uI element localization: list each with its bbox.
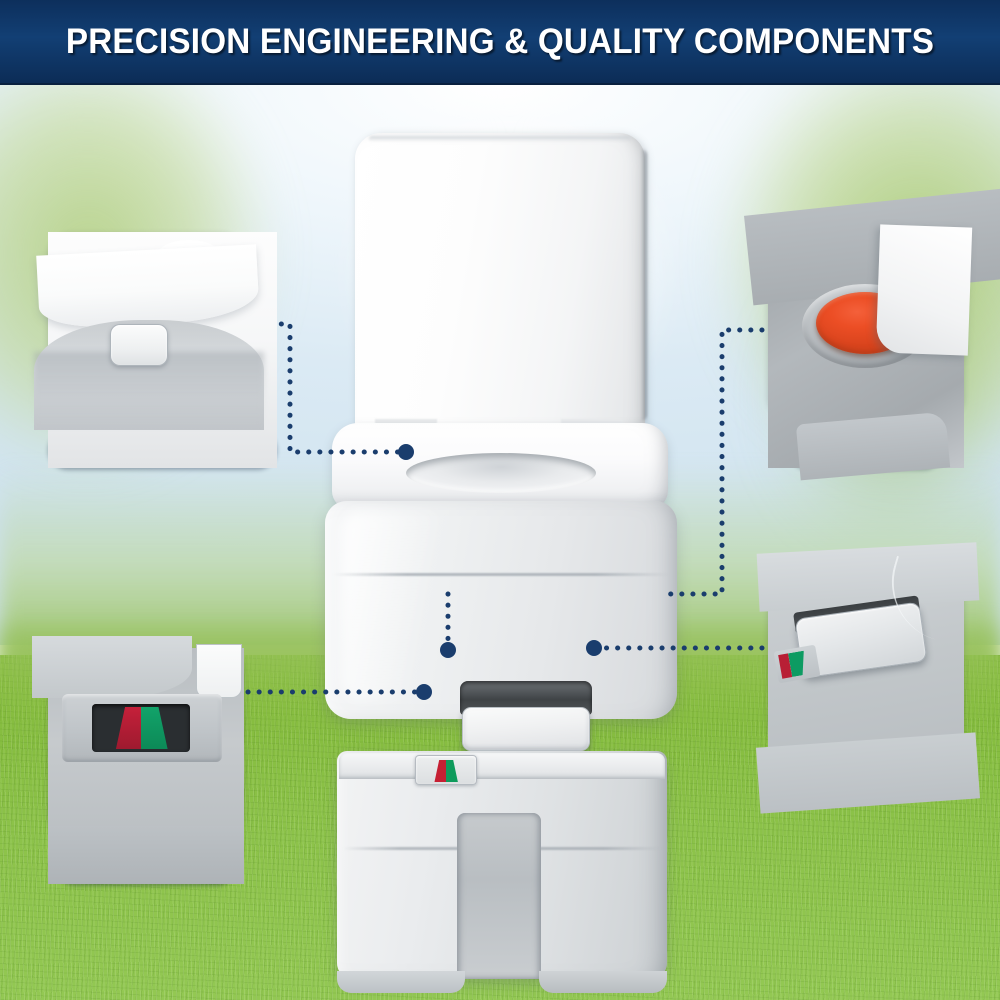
callout-outlet-image bbox=[48, 232, 244, 418]
seat-opening bbox=[406, 453, 596, 493]
level-body-bottom bbox=[48, 826, 244, 834]
level-indicator-housing bbox=[415, 755, 477, 785]
t-type-water-outlet-icon bbox=[48, 232, 244, 418]
outlet-t-nub bbox=[110, 324, 168, 366]
callout-vent[interactable]: Vent Button bbox=[768, 232, 964, 468]
callout-drain-image bbox=[768, 560, 964, 746]
upper-tank-seam bbox=[333, 573, 669, 576]
vent-lower-ledge bbox=[796, 412, 950, 418]
base-foot-left bbox=[337, 971, 465, 993]
level-indicator-icon bbox=[48, 648, 244, 834]
callout-outlet[interactable]: T-Type Water Outlet bbox=[48, 232, 277, 468]
gauge-red-segment bbox=[428, 760, 446, 782]
infographic-stage: PRECISION ENGINEERING & QUALITY COMPONEN… bbox=[0, 0, 1000, 1000]
lid-right-edge bbox=[641, 149, 647, 421]
upper-tank-highlight bbox=[341, 511, 461, 701]
lower-tank-lip bbox=[339, 753, 665, 779]
level-white-tab bbox=[196, 648, 242, 698]
level-gauge-window bbox=[92, 704, 190, 752]
vent-button-icon bbox=[768, 232, 964, 418]
outlet-lid-band bbox=[48, 244, 244, 329]
lid-top-highlight bbox=[369, 136, 631, 142]
drain-level-gauge bbox=[774, 645, 821, 684]
drain-valve-handle[interactable] bbox=[462, 707, 590, 751]
base-center-channel bbox=[457, 813, 541, 979]
drain-lower-shell bbox=[768, 732, 964, 746]
level-gauge-red bbox=[103, 707, 141, 749]
level-gauge-green bbox=[141, 707, 179, 749]
level-gauge-fan bbox=[103, 707, 179, 749]
base-foot-right bbox=[539, 971, 667, 993]
callout-vent-image bbox=[768, 232, 964, 418]
callout-level[interactable]: Level Indicator bbox=[48, 648, 244, 884]
drain-valve-icon bbox=[768, 560, 964, 746]
level-upper-shell bbox=[48, 648, 192, 698]
vent-white-lid-corner bbox=[876, 232, 964, 356]
callout-level-image bbox=[48, 648, 244, 834]
level-indicator-gauge bbox=[428, 760, 464, 782]
toilet-seat bbox=[332, 423, 668, 509]
page-title: PRECISION ENGINEERING & QUALITY COMPONEN… bbox=[66, 22, 934, 62]
lower-waste-tank bbox=[337, 751, 667, 979]
header-banner: PRECISION ENGINEERING & QUALITY COMPONEN… bbox=[0, 0, 1000, 85]
callout-drain[interactable]: Drain Valve bbox=[768, 560, 964, 796]
gauge-green-segment bbox=[446, 760, 464, 782]
toilet-lid bbox=[355, 133, 645, 433]
